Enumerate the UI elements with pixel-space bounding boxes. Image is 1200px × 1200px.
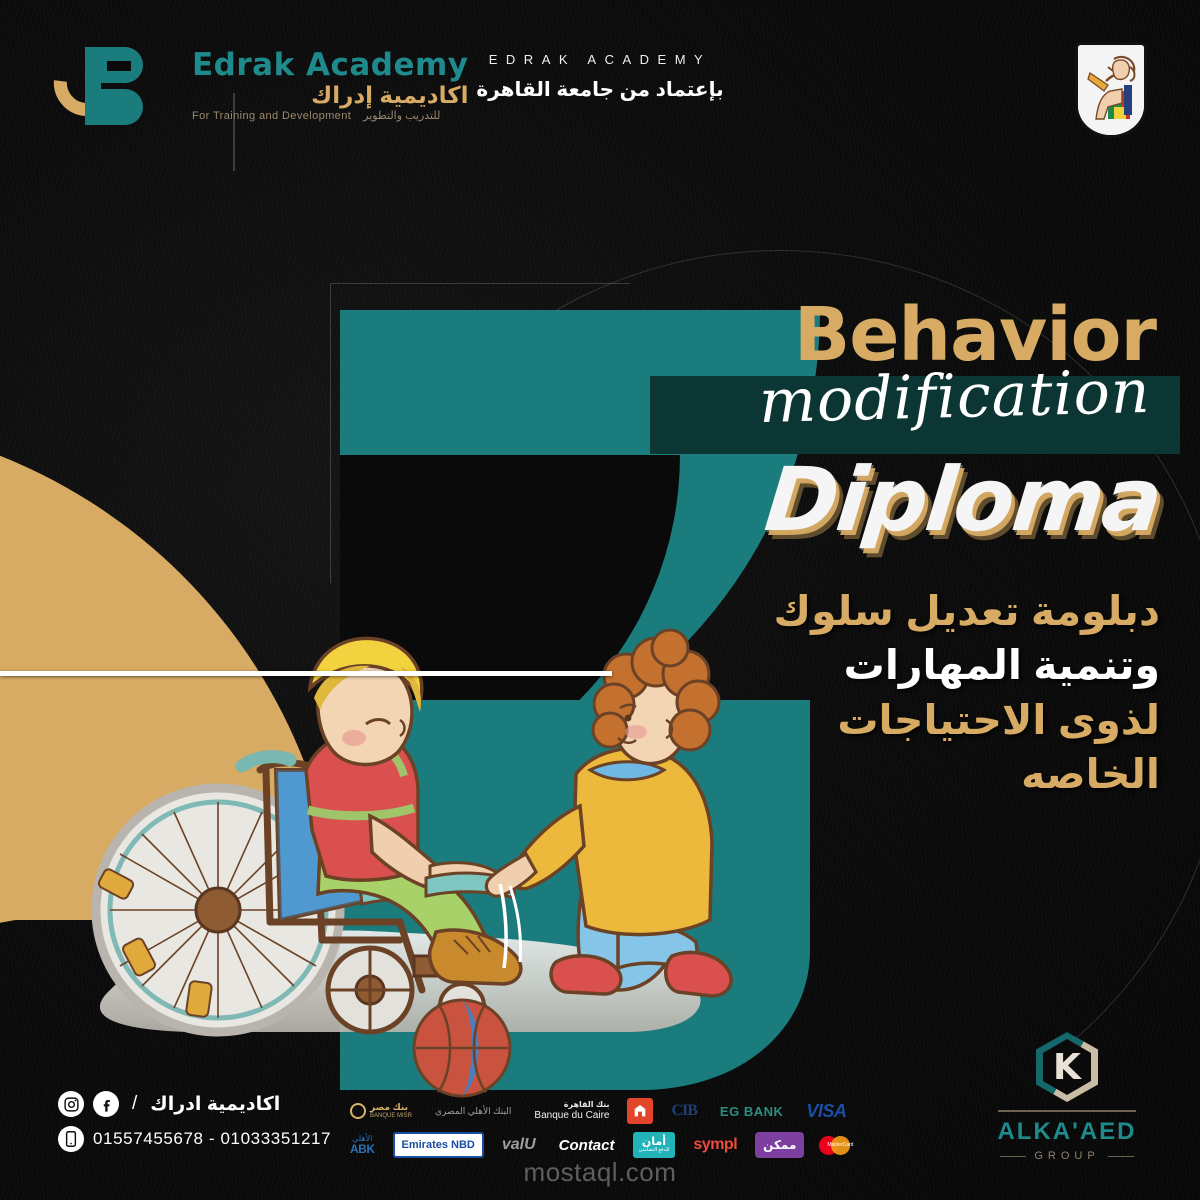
payment-logo-visa: VISA <box>801 1098 851 1124</box>
title-modification: modification <box>758 357 1151 437</box>
sub: Banque du Caire <box>534 1110 609 1121</box>
logo-divider <box>233 93 235 171</box>
social-row: / اكاديمية ادراك <box>58 1091 331 1117</box>
poster-canvas: Edrak Academy اكاديمية إدراك For Trainin… <box>0 0 1200 1200</box>
arabic-title-lines: دبلومة تعديل سلوك وتنمية المهارات لذوى ا… <box>640 584 1160 800</box>
arabic-title-line-2: وتنمية المهارات <box>640 638 1160 692</box>
payment-logo-contact: Contact <box>554 1132 620 1158</box>
header: Edrak Academy اكاديمية إدراك For Trainin… <box>0 0 1200 160</box>
payment-logo-mumkin: ممكن <box>755 1132 804 1158</box>
payment-logo-abk: الأهلي ABK <box>345 1132 380 1158</box>
logo-sub-en: For Training and Development <box>192 111 351 122</box>
phone-row: 01557455678 - 01033351217 <box>58 1126 331 1152</box>
scribe-emblem-icon <box>1078 45 1144 135</box>
brand-monogram: K <box>1036 1032 1098 1102</box>
payment-logo-emirates-nbd: Emirates NBD <box>393 1132 484 1158</box>
header-accreditation-ar: بإعتماد من جامعة القاهرة <box>0 77 1200 102</box>
payment-logo-egbank: EG BANK <box>715 1098 788 1124</box>
payment-row-2: الأهلي ABK Emirates NBD valU Contact أما… <box>345 1132 905 1158</box>
brand-name: ALKA'AED <box>992 1118 1142 1146</box>
payment-logo-banque-misr: بنك مصر BANQUE MISR <box>345 1098 417 1124</box>
payment-logo-mastercard: MasterCard <box>817 1132 859 1158</box>
payment-logo-cib: CIB <box>666 1098 701 1124</box>
payment-logo-sympl: sympl <box>688 1132 742 1158</box>
header-center-text: EDRAK ACADEMY بإعتماد من جامعة القاهرة <box>0 52 1200 102</box>
title-diploma: Diploma <box>761 448 1166 551</box>
payment-logo-banque-du-caire: بنك القاهرة Banque du Caire <box>529 1098 614 1124</box>
payment-logo-valu: valU <box>497 1132 541 1158</box>
brand-rule <box>998 1110 1136 1112</box>
instagram-icon[interactable] <box>58 1091 84 1117</box>
contact-block: / اكاديمية ادراك 01557455678 - 010333512… <box>58 1091 331 1152</box>
label: MasterCard <box>827 1143 853 1148</box>
logo-sub-ar: للتدريب والتطوير <box>363 111 440 122</box>
label: بنك مصر <box>370 1103 412 1112</box>
arabic-title-line-4: الخاصه <box>640 747 1160 801</box>
social-separator: / <box>132 1093 137 1115</box>
cairo-university-emblem <box>1075 42 1147 138</box>
sub: للدفع التضامني <box>639 1148 670 1153</box>
facebook-icon[interactable] <box>93 1091 119 1117</box>
arabic-title-line-3: لذوى الاحتياجات <box>640 693 1160 747</box>
mostaql-watermark: mostaql.com <box>0 1157 1200 1188</box>
payment-logos: بنك مصر BANQUE MISR البنك الأهلي المصري … <box>345 1098 905 1158</box>
payment-logo-nbe: البنك الأهلي المصري <box>430 1098 516 1124</box>
label: ABK <box>350 1143 375 1155</box>
header-academy-name-en: EDRAK ACADEMY <box>0 52 1200 67</box>
arabic-title-line-1: دبلومة تعديل سلوك <box>640 584 1160 638</box>
phone-numbers[interactable]: 01557455678 - 01033351217 <box>93 1129 331 1149</box>
payment-logo-nbe-mark <box>627 1098 653 1124</box>
white-separator-line <box>0 671 612 676</box>
payment-row-1: بنك مصر BANQUE MISR البنك الأهلي المصري … <box>345 1098 905 1124</box>
alkaaed-group-logo[interactable]: K ALKA'AED GROUP <box>992 1032 1142 1162</box>
hexagon-k-icon: K <box>1036 1032 1098 1102</box>
payment-logo-aman: أمان للدفع التضامني <box>633 1132 676 1158</box>
title-block: Behavior modification Diploma دبلومة تعد… <box>640 300 1160 801</box>
label: بنك القاهرة <box>564 1101 610 1110</box>
sub: BANQUE MISR <box>370 1113 412 1119</box>
mobile-phone-icon <box>58 1126 84 1152</box>
social-handle: اكاديمية ادراك <box>150 1093 280 1116</box>
